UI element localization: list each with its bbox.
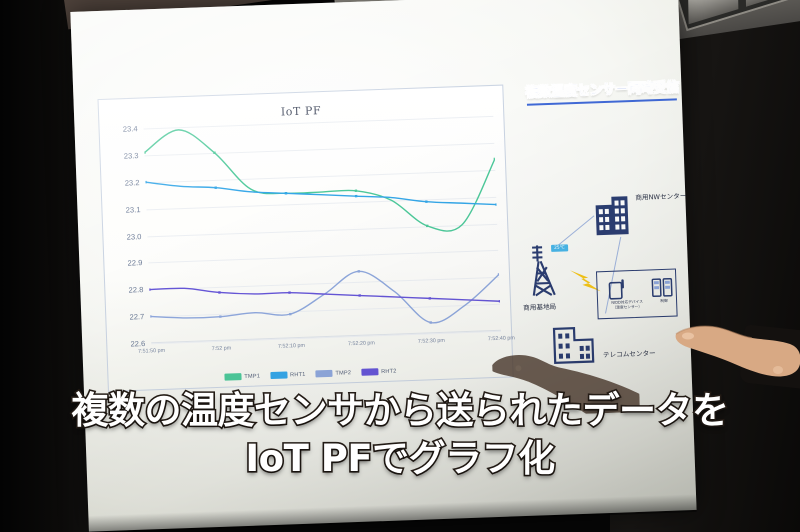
chart-y-tick-label: 22.9 xyxy=(127,258,142,268)
chart-x-tick-label: 7:52 pm xyxy=(212,345,232,352)
caption-line-1: 複数の温度センサから送られたデータを xyxy=(0,392,800,430)
nidd-device-label-text: NIDD対応デバイス（温度センサー） xyxy=(611,300,643,310)
presenter-hand xyxy=(674,318,800,388)
chart-data-point xyxy=(289,313,291,315)
chart-line-tmp1 xyxy=(144,119,498,242)
caption-line-2: IoT PFでグラフ化 xyxy=(0,440,800,478)
slide-banner: 複数温度センサー同時受信 xyxy=(525,76,686,101)
chart-data-point xyxy=(426,225,428,227)
chart-x-tick-label: 7:52:30 pm xyxy=(418,338,445,345)
chart-legend: TMP1RHT1TMP2RHT2 xyxy=(108,363,512,384)
chart-data-point xyxy=(144,151,146,153)
chart-line-rht2 xyxy=(149,277,500,314)
chart-y-tick-label: 23.1 xyxy=(126,205,141,215)
legend-label: TMP2 xyxy=(335,370,351,377)
chart-y-tick-label: 22.6 xyxy=(130,339,145,349)
chart-data-point xyxy=(214,186,216,188)
chart-data-point xyxy=(219,315,221,317)
chart-plot-area: 23.423.323.223.123.022.922.822.722.67:51… xyxy=(144,116,501,343)
chart-data-point xyxy=(494,158,496,160)
chart-data-point xyxy=(148,288,150,290)
chart-data-point xyxy=(429,297,431,299)
legend-label: TMP1 xyxy=(244,373,260,380)
legend-item-rht1[interactable]: RHT1 xyxy=(270,371,306,379)
legend-swatch xyxy=(361,368,378,376)
chart-data-point xyxy=(288,291,290,293)
chart-x-tick-label: 7:51:50 pm xyxy=(138,348,165,355)
chart-data-point xyxy=(355,190,357,192)
chart-data-point xyxy=(358,270,360,272)
chart-data-point xyxy=(149,315,151,317)
temperature-badge: 25℃ xyxy=(551,244,568,252)
legend-item-tmp2[interactable]: TMP2 xyxy=(315,369,351,377)
chart-y-tick-label: 23.0 xyxy=(126,232,141,242)
server-label: 制御 xyxy=(651,298,677,304)
chart-x-tick-label: 7:52:40 pm xyxy=(488,335,515,342)
chart-y-tick-label: 23.2 xyxy=(125,178,140,188)
chart-x-tick-label: 7:52:20 pm xyxy=(348,340,375,347)
legend-swatch xyxy=(224,373,241,381)
legend-label: RHT1 xyxy=(290,371,306,378)
chart-y-tick-label: 23.4 xyxy=(123,124,138,134)
nw-center-building-icon xyxy=(589,190,635,243)
chart-data-point xyxy=(218,291,220,293)
chart-data-point xyxy=(358,294,360,296)
chart-y-tick-label: 23.3 xyxy=(124,151,139,161)
chart-panel: IoT PF 23.423.323.223.123.022.922.822.72… xyxy=(97,85,513,392)
chart-data-point xyxy=(285,192,287,194)
slide-banner-text: 複数温度センサー同時受信 xyxy=(525,76,686,101)
chart-data-point xyxy=(429,321,431,323)
chart-y-tick-label: 22.7 xyxy=(129,312,144,322)
chart-data-point xyxy=(425,200,427,202)
chart-series-svg xyxy=(144,116,501,343)
legend-swatch xyxy=(315,370,332,378)
chart-x-tick-label: 7:52:10 pm xyxy=(278,343,305,350)
chart-data-point xyxy=(144,181,146,183)
chart-data-point xyxy=(355,195,357,197)
chart-data-point xyxy=(495,203,497,205)
chart-data-point xyxy=(498,273,500,275)
legend-label: RHT2 xyxy=(381,368,397,375)
legend-swatch xyxy=(270,371,287,379)
legend-item-tmp1[interactable]: TMP1 xyxy=(224,372,260,380)
legend-item-rht2[interactable]: RHT2 xyxy=(361,368,397,376)
chart-data-point xyxy=(213,152,215,154)
network-diagram: 商用NWセンター xyxy=(515,140,693,376)
base-station-label: 商用基地局 xyxy=(523,301,556,312)
chart-line-rht1 xyxy=(145,170,496,217)
chart-y-tick-label: 22.8 xyxy=(128,285,143,295)
chart-data-point xyxy=(499,300,501,302)
nw-center-label: 商用NWセンター xyxy=(635,190,686,202)
photo-scene: 複数温度センサー同時受信 IoT PF 23.423.323.223.123.0… xyxy=(0,0,800,532)
